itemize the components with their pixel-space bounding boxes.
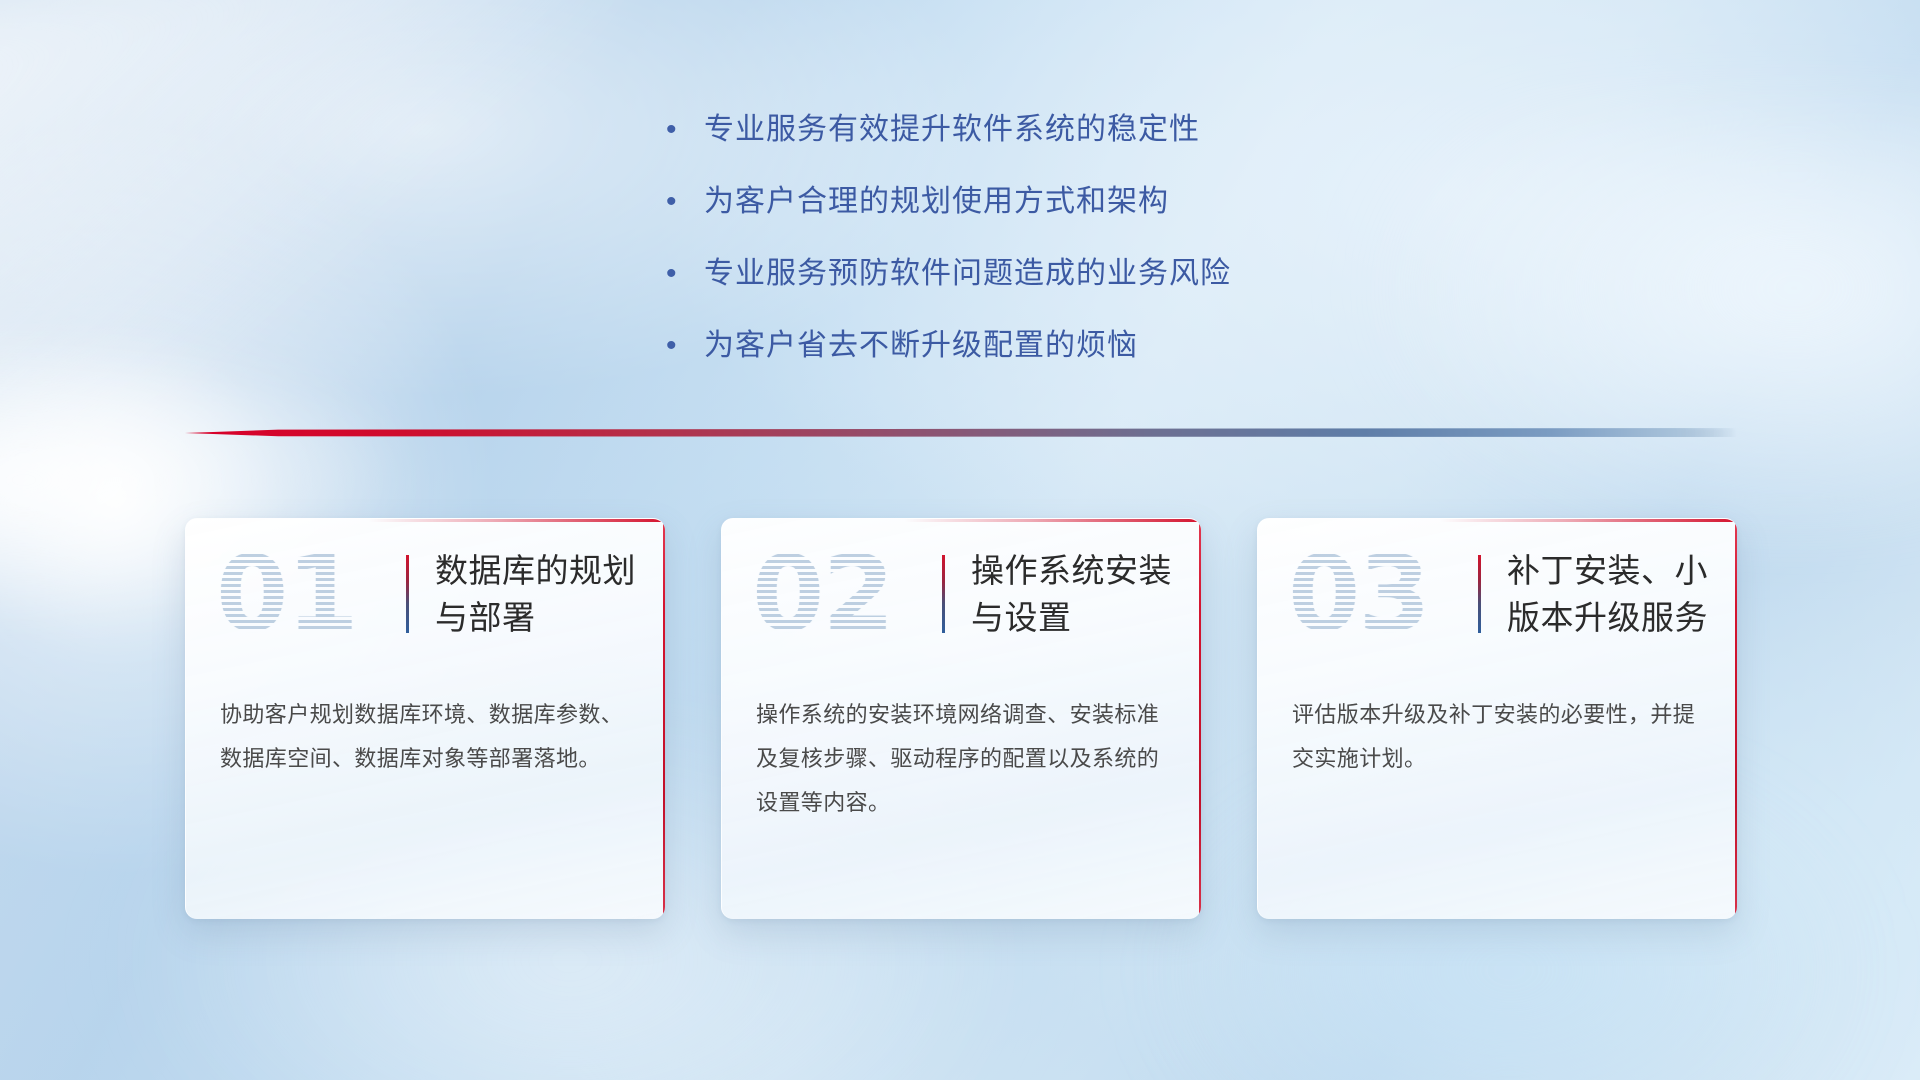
card-title-rule	[406, 555, 409, 633]
bullet-text: 专业服务预防软件问题造成的业务风险	[704, 252, 1231, 296]
list-item: • 为客户合理的规划使用方式和架构	[660, 180, 1560, 224]
list-item: • 专业服务有效提升软件系统的稳定性	[660, 108, 1560, 152]
service-card-01[interactable]: 01 数据库的规划 与部署 协助客户规划数据库环境、数据库参数、数据库空间、数据…	[185, 518, 665, 919]
card-number: 03	[1288, 542, 1478, 646]
card-body-text: 评估版本升级及补丁安装的必要性，并提交实施计划。	[1258, 669, 1737, 781]
bullet-text: 专业服务有效提升软件系统的稳定性	[704, 108, 1200, 152]
bullet-dot-icon: •	[660, 252, 704, 296]
section-divider	[185, 428, 1737, 444]
card-number: 01	[216, 542, 406, 646]
service-card-03[interactable]: 03 补丁安装、小 版本升级服务 评估版本升级及补丁安装的必要性，并提交实施计划…	[1257, 518, 1737, 919]
bullet-dot-icon: •	[660, 180, 704, 224]
service-card-list: 01 数据库的规划 与部署 协助客户规划数据库环境、数据库参数、数据库空间、数据…	[185, 518, 1737, 919]
bullet-text: 为客户省去不断升级配置的烦恼	[704, 324, 1138, 368]
card-body-text: 操作系统的安装环境网络调查、安装标准及复核步骤、驱动程序的配置以及系统的设置等内…	[722, 669, 1201, 825]
service-card-02[interactable]: 02 操作系统安装 与设置 操作系统的安装环境网络调查、安装标准及复核步骤、驱动…	[721, 518, 1201, 919]
benefits-bullet-list: • 专业服务有效提升软件系统的稳定性 • 为客户合理的规划使用方式和架构 • 专…	[660, 108, 1560, 396]
list-item: • 为客户省去不断升级配置的烦恼	[660, 324, 1560, 368]
card-number: 02	[752, 542, 942, 646]
card-title: 补丁安装、小 版本升级服务	[1507, 547, 1708, 641]
card-header: 03 补丁安装、小 版本升级服务	[1258, 519, 1737, 669]
divider-gradient-bar	[185, 428, 1737, 437]
bullet-dot-icon: •	[660, 324, 704, 368]
background-light-streak-top-left	[0, 0, 686, 533]
card-header: 01 数据库的规划 与部署	[186, 519, 665, 669]
bullet-dot-icon: •	[660, 108, 704, 152]
card-title: 数据库的规划 与部署	[435, 547, 636, 641]
card-header: 02 操作系统安装 与设置	[722, 519, 1201, 669]
card-title: 操作系统安装 与设置	[971, 547, 1172, 641]
card-body-text: 协助客户规划数据库环境、数据库参数、数据库空间、数据库对象等部署落地。	[186, 669, 665, 781]
card-title-rule	[942, 555, 945, 633]
list-item: • 专业服务预防软件问题造成的业务风险	[660, 252, 1560, 296]
bullet-text: 为客户合理的规划使用方式和架构	[704, 180, 1169, 224]
card-title-rule	[1478, 555, 1481, 633]
slide-canvas: • 专业服务有效提升软件系统的稳定性 • 为客户合理的规划使用方式和架构 • 专…	[0, 0, 1920, 1080]
